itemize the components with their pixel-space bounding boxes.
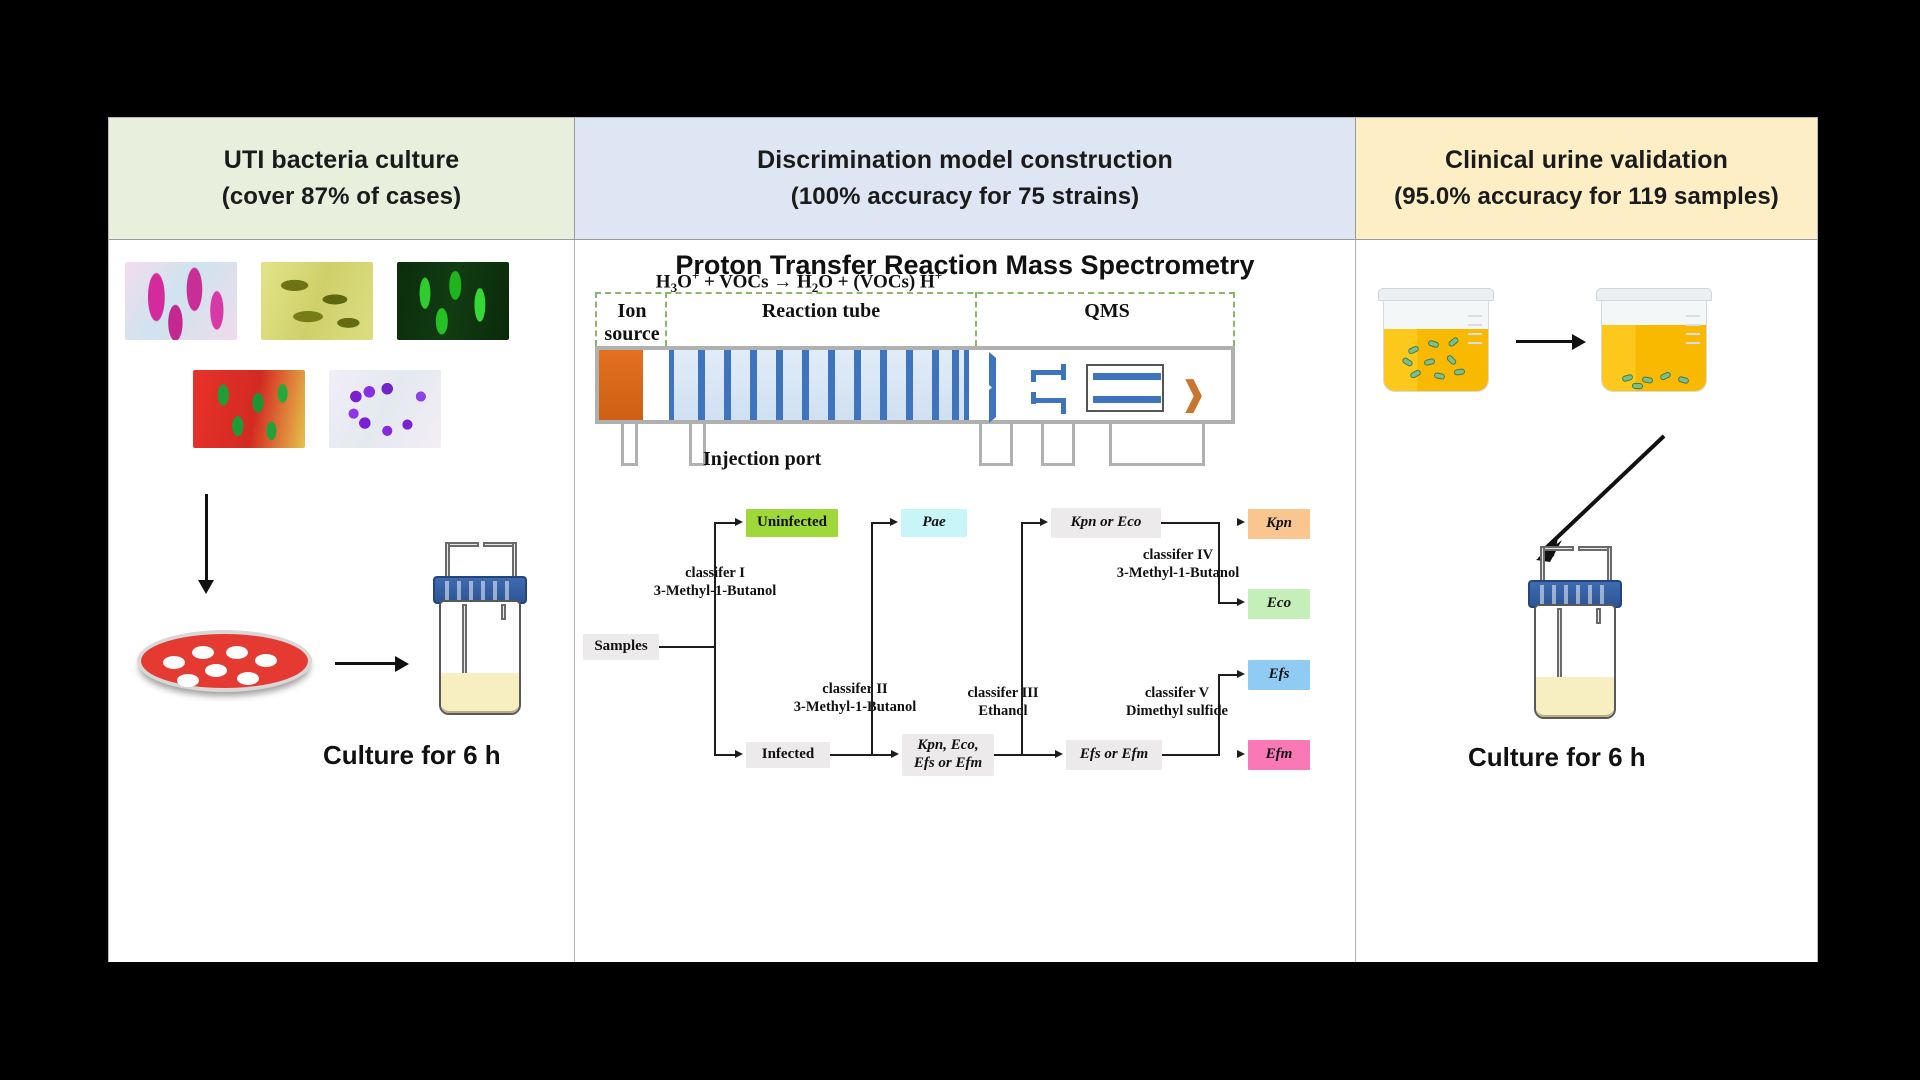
flow-node-eco-label: Eco [1267,595,1291,613]
column-subtitle: (cover 87% of cases) [222,183,461,211]
bacteria-micrograph-purple [329,370,441,448]
section-label-ion-source: Ion source [595,300,669,346]
bacteria-micrograph-green [397,262,509,340]
column-body-clinical-urine-validation: Culture for 6 h [1356,240,1817,962]
dash-divider-2 [975,292,977,346]
flow-node-kpn-or-eco: Kpn or Eco [1051,508,1161,538]
quadrupole-mass-filter [1086,364,1164,412]
reaction-tube-block [669,350,969,420]
detector-icon: ❱ [1179,374,1208,414]
ptr-reaction-equation: H3O+ + VOCs → H2O + (VOCs) H+ [649,268,949,296]
cup-graduation-marks [1468,315,1482,351]
section-label-reaction-tube: Reaction tube [671,300,971,323]
column-header-uti-bacteria-culture: UTI bacteria culture (cover 87% of cases… [109,118,575,240]
flow-node-pae: Pae [901,509,967,537]
arrow-down-head [198,580,214,594]
column-subtitle: (95.0% accuracy for 119 samples) [1394,183,1779,211]
validation-arrow-shaft [1516,340,1574,343]
arrow-right-head [395,656,409,672]
column-header-discrimination-model-construction: Discrimination model construction (100% … [575,118,1356,240]
flow-node-efs-label: Efs [1269,666,1290,684]
classifier-5-name: classifer V [1145,685,1209,701]
classifier-2-marker: 3-Methyl-1-Butanol [794,699,916,715]
classifier-1-label: classifer I 3-Methyl-1-Butanol [620,564,810,600]
instrument-leg-3 [979,424,1013,466]
flow-node-infected: Infected [746,742,830,768]
instrument-leg-5 [1109,424,1205,466]
column-body-uti-bacteria-culture: Culture for 6 h [109,240,575,962]
cup-body [1601,300,1707,392]
flow-node-efm-label: Efm [1266,746,1293,764]
group-line-2: Efs or Efm [914,755,982,773]
ion-source-block [599,350,643,420]
bacteria-micrograph-red [193,370,305,448]
gas-washing-bottle [409,536,551,726]
flow-node-kpn-eco-efs-efm: Kpn, Eco, Efs or Efm [902,734,994,776]
culture-caption-left: Culture for 6 h [323,740,501,771]
classifier-3-label: classifer III Ethanol [923,684,1083,720]
graphical-abstract-figure: UTI bacteria culture (cover 87% of cases… [108,117,1818,962]
petri-dish [137,630,312,700]
classifier-5-label: classifer V Dimethyl sulfide [1087,684,1267,720]
column-body-discrimination-model: Proton Transfer Reaction Mass Spectromet… [575,240,1356,962]
section-label-qms: QMS [979,300,1235,323]
classifier-2-name: classifer II [822,681,887,697]
flow-node-efs-or-efm-label: Efs or Efm [1080,746,1148,762]
flow-node-uninfected: Uninfected [746,509,838,537]
cup-body [1383,300,1489,392]
flow-node-efs-or-efm: Efs or Efm [1066,740,1162,770]
column-title: Discrimination model construction [757,146,1173,175]
urine-sample-cup-after [1596,288,1712,396]
classifier-2-label: classifer II 3-Methyl-1-Butanol [765,680,945,716]
arrow-down-shaft [205,494,208,582]
cup-graduation-marks [1686,315,1700,351]
ptrms-instrument-body: ❱ [595,346,1235,424]
flow-node-eco: Eco [1248,589,1310,619]
classifier-4-name: classifer IV [1143,547,1213,563]
classifier-4-marker: 3-Methyl-1-Butanol [1117,565,1239,581]
classifier-4-label: classifer IV 3-Methyl-1-Butanol [1088,546,1268,582]
column-title: UTI bacteria culture [224,146,459,175]
column-header-clinical-urine-validation: Clinical urine validation (95.0% accurac… [1356,118,1817,240]
instrument-leg-4 [1041,424,1075,466]
column-subtitle: (100% accuracy for 75 strains) [791,183,1140,211]
arrow-right-shaft [335,662,397,665]
flow-node-kpn-or-eco-label: Kpn or Eco [1071,514,1142,530]
group-line-1: Kpn, Eco, [917,737,978,755]
classifier-1-name: classifer I [685,565,745,581]
flow-node-kpn: Kpn [1248,509,1310,539]
screenshot-stage: UTI bacteria culture (cover 87% of cases… [0,0,1920,1080]
classifier-5-marker: Dimethyl sulfide [1126,703,1228,719]
flow-node-kpn-label: Kpn [1266,515,1292,533]
instrument-leg-1 [621,424,638,466]
flow-node-pae-label: Pae [922,514,945,532]
classifier-1-marker: 3-Methyl-1-Butanol [654,583,776,599]
classifier-3-name: classifer III [967,685,1038,701]
discrimination-flowchart: Samples Uninfected Infected classifer I … [575,508,1356,962]
flow-node-efm: Efm [1248,740,1310,770]
gas-washing-bottle [1504,540,1646,730]
validation-arrow-head [1572,334,1586,350]
column-title: Clinical urine validation [1445,146,1728,175]
urine-sample-cup-before [1378,288,1494,396]
culture-caption-right: Culture for 6 h [1468,742,1646,773]
flow-node-samples: Samples [583,634,659,660]
injection-port-label: Injection port [703,448,821,471]
bacteria-micrograph-magenta [125,262,237,340]
bacteria-micrograph-olive [261,262,373,340]
